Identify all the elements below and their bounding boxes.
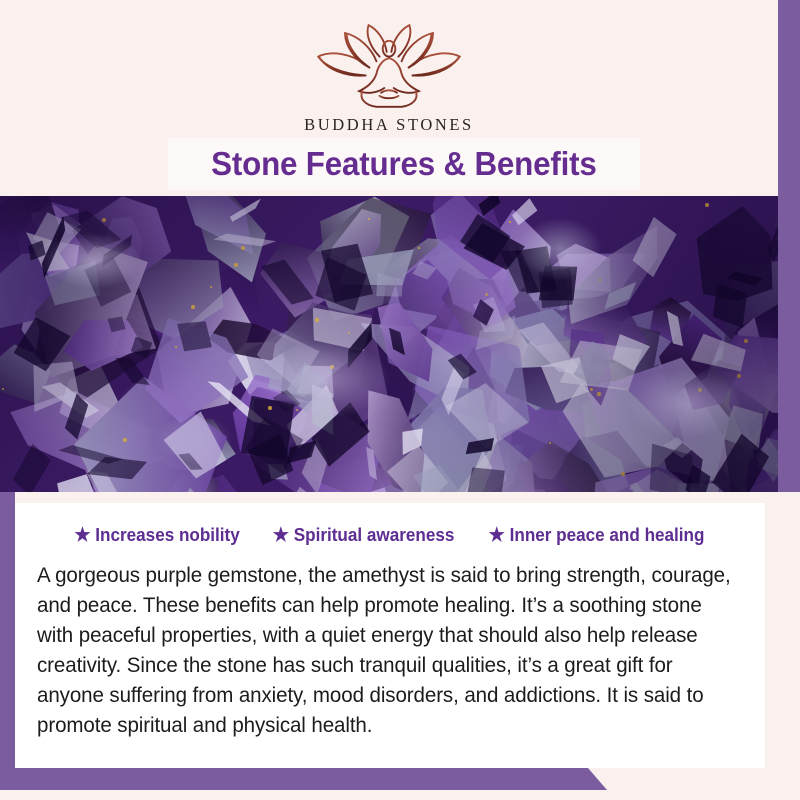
star-icon: ★: [489, 526, 505, 545]
stone-description: A gorgeous purple gemstone, the amethyst…: [37, 560, 742, 740]
frame-right-strip: [778, 0, 800, 492]
crystal-speck: [597, 392, 601, 396]
benefit-label: Spiritual awareness: [294, 525, 455, 546]
content-divider: [15, 492, 765, 503]
crystal-speck: [268, 406, 272, 410]
star-icon: ★: [74, 526, 90, 545]
brand-name: BUDDHA STONES: [304, 115, 474, 135]
page-title: Stone Features & Benefits: [211, 145, 596, 183]
crystal-speck: [2, 388, 4, 390]
benefit-item-0: ★ Increases nobility: [74, 525, 239, 546]
benefits-row: ★ Increases nobility ★ Spiritual awarene…: [37, 513, 743, 551]
benefit-label: Inner peace and healing: [510, 525, 705, 546]
header: BUDDHA STONES Stone Features & Benefits: [0, 0, 778, 196]
title-band: Stone Features & Benefits: [168, 138, 640, 190]
crystal-speck: [315, 318, 319, 322]
content-card: ★ Increases nobility ★ Spiritual awarene…: [15, 503, 765, 768]
crystal-speck: [102, 218, 106, 222]
benefit-label: Increases nobility: [95, 525, 239, 546]
amethyst-hero-image: Amethyst: [0, 196, 778, 492]
lotus-meditation-icon: [309, 22, 469, 110]
crystal-speck: [509, 221, 511, 223]
frame-bottom-band: [0, 768, 800, 790]
brand-logo-block: BUDDHA STONES: [0, 22, 778, 135]
crystal-speck: [737, 374, 741, 378]
crystal-speck: [175, 346, 177, 348]
crystal-speck: [599, 279, 601, 281]
crystal-speck: [549, 442, 551, 444]
crystal-speck: [418, 247, 420, 249]
benefit-item-1: ★ Spiritual awareness: [273, 525, 455, 546]
benefit-item-2: ★ Inner peace and healing: [489, 525, 705, 546]
crystal-speck: [191, 305, 195, 309]
crystal-speck: [705, 203, 709, 207]
crystal-speck: [330, 365, 334, 369]
frame-left-strip: [0, 492, 15, 790]
star-icon: ★: [273, 526, 289, 545]
